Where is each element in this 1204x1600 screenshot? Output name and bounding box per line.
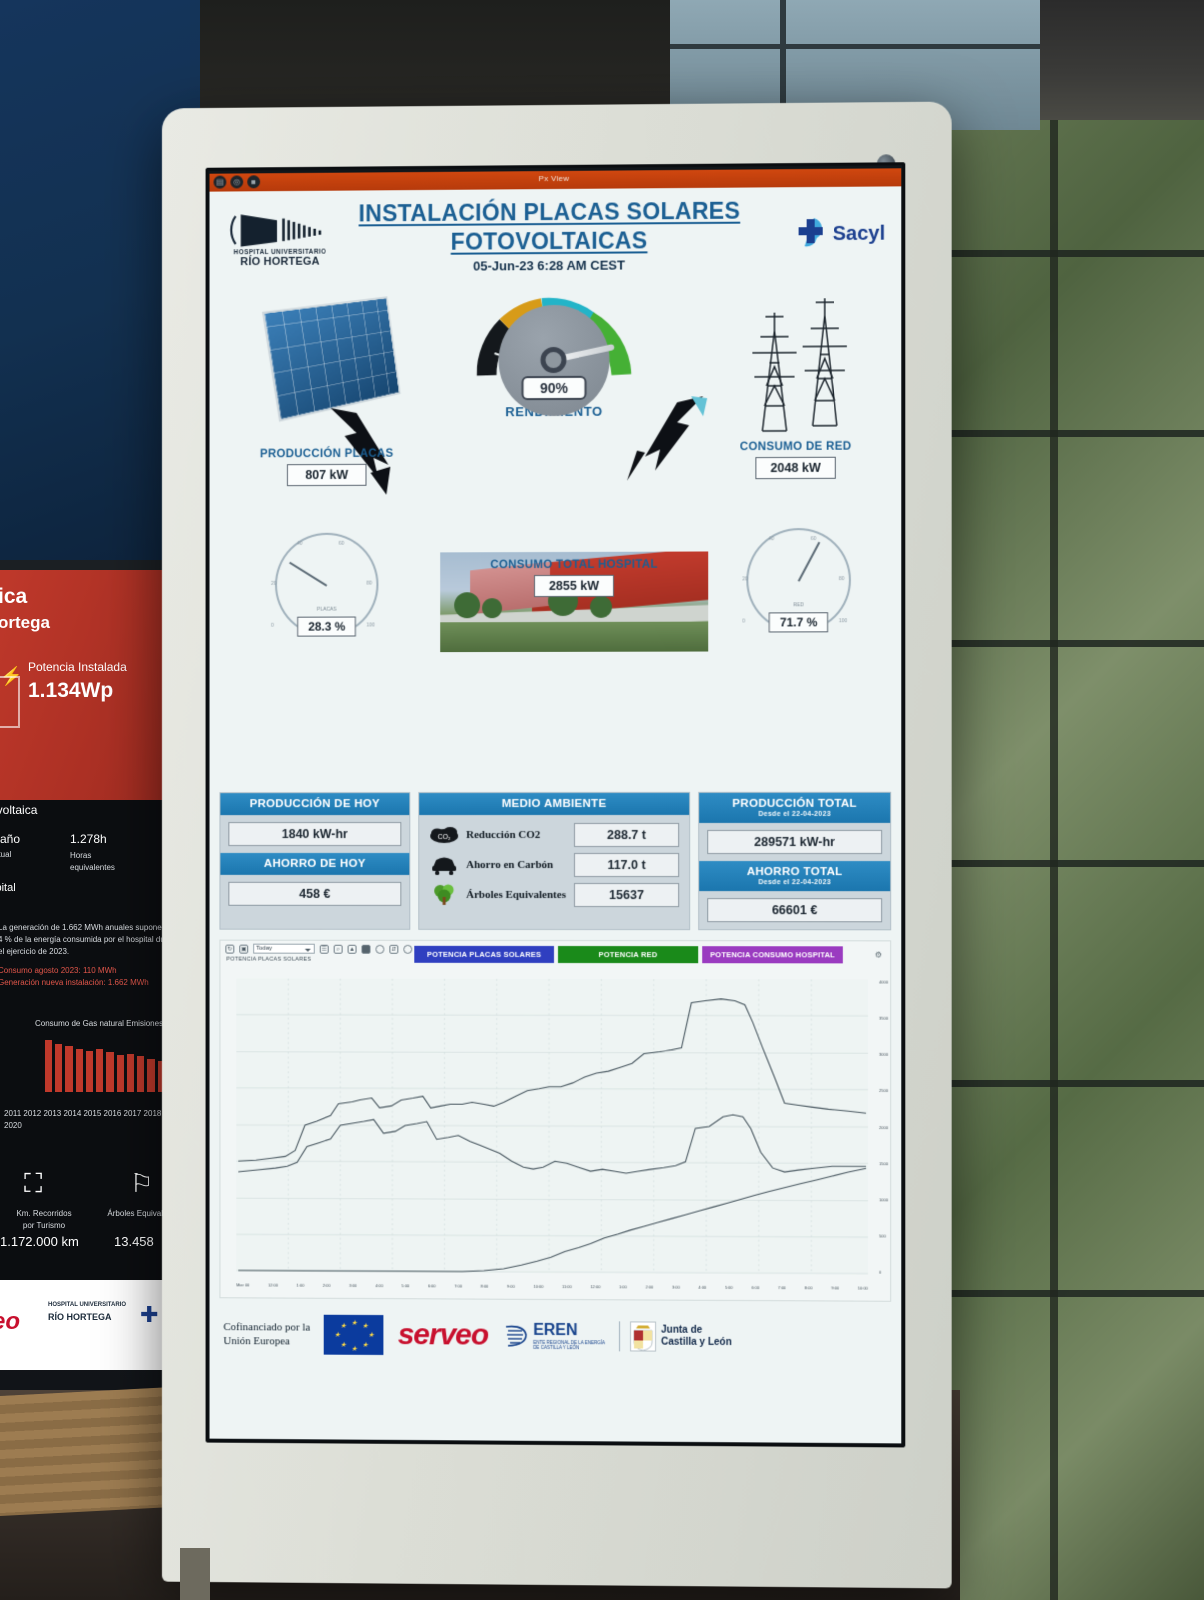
power-pylons-image <box>740 290 861 441</box>
x-tick: 9:00 <box>507 1284 515 1289</box>
poster-hours-unit1: Horas <box>70 850 91 862</box>
environment-row-value-box: 117.0 t <box>574 853 679 877</box>
energy-flow-diagram: 90% RENDIMIENTO <box>210 275 902 793</box>
x-tick: 7:00 <box>454 1283 462 1288</box>
grid-value: 2048 kW <box>755 457 835 479</box>
x-tick: 10:00 <box>858 1286 868 1291</box>
poster-hours-unit2: equivalentes <box>70 862 115 874</box>
x-tick: 1:00 <box>619 1284 627 1289</box>
environment-row-label: Ahorro en Carbón <box>466 859 567 871</box>
panel-gauge-value: 28.3 % <box>297 617 356 637</box>
eren-logo: EREN ENTE REGIONAL DE LA ENERGÍA DE CAST… <box>502 1322 605 1351</box>
jcyl-logo: Junta de Castilla y León <box>619 1321 732 1352</box>
poster-trees-value: 13.458 <box>114 1234 154 1250</box>
legend-hospital[interactable]: POTENCIA CONSUMO HOSPITAL <box>702 946 843 963</box>
alarm-icon[interactable]: ▲ <box>348 944 357 953</box>
co2-cloud-icon: CO₂ <box>429 824 459 846</box>
svg-text:CO₂: CO₂ <box>438 834 451 841</box>
x-tick: 6:00 <box>752 1285 760 1290</box>
x-tick: 2:00 <box>646 1284 654 1289</box>
today-saving-body: 458 € <box>220 875 409 913</box>
rio-hortega-mark-icon <box>225 208 334 249</box>
x-tick: 5:00 <box>725 1285 733 1290</box>
poster-red-1: Consumo agosto 2023: 110 MWh <box>0 965 117 977</box>
environment-panel: MEDIO AMBIENTE CO₂ <box>418 792 690 930</box>
stop-icon[interactable] <box>362 944 371 953</box>
header-title-block: INSTALACIÓN PLACAS SOLARES FOTOVOLTAICAS… <box>335 197 765 274</box>
y-tick: 3000 <box>879 1052 888 1057</box>
environment-row-value-box: 288.7 t <box>574 823 679 847</box>
range-select[interactable]: Today <box>253 944 315 954</box>
poster-brand-sub-1: HOSPITAL UNIVERSITARIO <box>48 1302 126 1308</box>
chart-legend[interactable]: POTENCIA PLACAS SOLARES POTENCIA RED POT… <box>414 946 843 964</box>
serveo-logo: serveo <box>398 1318 488 1352</box>
environment-row: Árboles Equivalentes 15637 <box>429 883 679 907</box>
environment-row-value-box: 15637 <box>574 883 679 907</box>
today-saving-value: 458 € <box>228 882 401 906</box>
poster-red-2: Generación nueva instalación: 1.662 MWh <box>0 977 149 989</box>
sacyl-logo: Sacyl <box>764 214 885 255</box>
production-block: PRODUCCIÓN PLACAS 807 kW <box>227 448 426 487</box>
grid-consumption-block: CONSUMO DE RED 2048 kW <box>700 440 891 479</box>
poster-km-label-1: Km. Recorridos <box>4 1208 84 1220</box>
gauge-value: 90% <box>522 376 586 400</box>
settings-icon[interactable] <box>403 944 412 953</box>
poster-sacyl-icon: ✚ <box>140 1302 158 1328</box>
x-tick: 2:00 <box>323 1283 331 1288</box>
total-value: 2855 kW <box>534 575 614 597</box>
today-production-header: PRODUCCIÓN DE HOY <box>220 793 409 815</box>
y-tick: 1000 <box>879 1197 888 1202</box>
car-icon: ⛶ <box>24 1168 42 1200</box>
eren-name: EREN <box>533 1322 605 1340</box>
x-tick: 6:00 <box>428 1283 436 1288</box>
production-label: PRODUCCIÓN PLACAS <box>227 448 426 461</box>
legend-solar[interactable]: POTENCIA PLACAS SOLARES <box>414 946 554 963</box>
chart-gear-icon[interactable]: ⚙ <box>875 950 882 959</box>
x-tick: 12:00 <box>268 1283 278 1288</box>
poster-hours-label: h/año <box>0 832 20 847</box>
jcyl-text: Junta de Castilla y León <box>661 1325 732 1349</box>
sacyl-cross-icon <box>787 214 827 254</box>
poster-power-value: 1.134Wp <box>28 678 113 704</box>
y-tick: 3500 <box>879 1016 888 1021</box>
tree-icon <box>429 884 459 906</box>
list-icon[interactable]: ☰ <box>320 944 329 953</box>
co2-value: 288.7 t <box>574 823 679 847</box>
chart-x-axis-labels: Mier 00 12:00 1:00 2:00 3:00 4:00 5:00 6… <box>236 1282 868 1290</box>
y-tick: 500 <box>879 1233 888 1238</box>
poster-brand-sub-2: RÍO HORTEGA <box>48 1312 112 1322</box>
jcyl-line-1: Junta de <box>661 1325 732 1337</box>
grid-share-gauge: 4060 2080 0100 RED 71.7 % <box>738 528 859 639</box>
eu-flag-icon: ★★ ★★ ★★ ★★ <box>324 1315 384 1355</box>
stats-panels: PRODUCCIÓN DE HOY 1840 kW-hr AHORRO DE H… <box>210 792 902 931</box>
x-tick: 12:00 <box>590 1284 600 1289</box>
total-saving-title: AHORRO TOTAL <box>747 866 843 878</box>
poster-mini-bar-chart <box>45 1030 175 1092</box>
total-production-sub: Desde el 22-04-2023 <box>701 811 888 818</box>
total-saving-sub: Desde el 22-04-2023 <box>701 879 888 886</box>
building-lawn <box>440 622 708 653</box>
x-tick: 1:00 <box>296 1283 304 1288</box>
calendar-icon[interactable]: ▣ <box>239 944 248 953</box>
y-tick: 4000 <box>879 980 888 985</box>
updown-icon[interactable]: ⇵ <box>389 944 398 953</box>
photo-scene: ica ortega Potencia Instalada 1.134Wp ⚡ … <box>0 0 1204 1600</box>
x-tick: 5:00 <box>402 1283 410 1288</box>
search-icon[interactable]: ⌕ <box>334 944 343 953</box>
y-tick: 0 <box>879 1270 888 1275</box>
total-production-title: PRODUCCIÓN TOTAL <box>732 798 856 810</box>
total-saving-body: 66601 € <box>699 891 890 929</box>
today-panel: PRODUCCIÓN DE HOY 1840 kW-hr AHORRO DE H… <box>219 792 410 930</box>
total-production-value: 289571 kW-hr <box>707 830 882 854</box>
jcyl-crest-icon <box>630 1321 656 1351</box>
chart-y-axis-labels: 4000 3500 3000 2500 2000 1500 1000 500 0 <box>879 980 888 1275</box>
rio-hortega-logo: HOSPITAL UNIVERSITARIO RÍO HORTEGA <box>225 208 334 268</box>
poster-hours-value: 1.278h <box>70 832 107 847</box>
poster-km-label-2: por Turismo <box>4 1220 84 1232</box>
gauge-center-cap <box>541 347 567 373</box>
page-datetime: 05-Jun-23 6:28 AM CEST <box>335 257 765 275</box>
x-tick: 9:00 <box>831 1285 839 1290</box>
pylon-icon <box>740 290 861 441</box>
footer-logos: Cofinanciado por la Unión Europea ★★ ★★ … <box>210 1298 902 1358</box>
dashboard-page: HOSPITAL UNIVERSITARIO RÍO HORTEGA INSTA… <box>210 186 902 1443</box>
poster-brand: eo <box>0 1308 20 1336</box>
hospital-line-2: RÍO HORTEGA <box>225 255 334 268</box>
poster-hours-sub: actual <box>0 849 11 861</box>
poster-para-2: 4 % de la energía consumida por el hospi… <box>0 934 183 946</box>
poster-footer-logos: eo HOSPITAL UNIVERSITARIO RÍO HORTEGA ✚ <box>0 1280 188 1370</box>
building-icon <box>0 676 20 728</box>
refresh-icon[interactable]: ↻ <box>225 944 234 953</box>
dashboard-header: HOSPITAL UNIVERSITARIO RÍO HORTEGA INSTA… <box>210 186 902 279</box>
poster-pv-label: ovoltaica <box>0 803 37 818</box>
eren-mark-icon <box>502 1323 530 1349</box>
environment-row: Ahorro en Carbón 117.0 t <box>429 853 679 877</box>
x-tick: Mier 00 <box>236 1282 249 1287</box>
power-trend-chart: ↻ ▣ Today ☰ ⌕ ▲ ⇵ POTENCIA PLACAS SOLARE… <box>219 940 891 1302</box>
page-title-line-2: FOTOVOLTAICAS <box>335 226 765 256</box>
total-panel: PRODUCCIÓN TOTAL Desde el 22-04-2023 289… <box>698 792 891 931</box>
chart-plot-area[interactable] <box>236 979 868 1275</box>
legend-grid[interactable]: POTENCIA RED <box>558 946 698 963</box>
sacyl-label: Sacyl <box>833 222 886 245</box>
jcyl-line-2: Castilla y León <box>661 1337 732 1349</box>
gauge-dial <box>477 285 632 381</box>
x-tick: 8:00 <box>481 1284 489 1289</box>
total-production-header: PRODUCCIÓN TOTAL Desde el 22-04-2023 <box>699 793 890 823</box>
panel-gauge-unit: PLACAS <box>267 606 386 612</box>
x-tick: 11:00 <box>562 1284 572 1289</box>
eu-line-2: Unión Europea <box>223 1334 310 1349</box>
tree-decor <box>482 598 502 618</box>
digital-signage-kiosk: ▤ ◎ ■ Px View <box>162 102 952 1589</box>
clock-icon[interactable] <box>375 944 384 953</box>
tree-decor <box>590 596 612 618</box>
environment-row: CO₂ Reducción CO2 288.7 t <box>429 823 679 847</box>
coal-value: 117.0 t <box>574 853 679 877</box>
eu-cofinance-text: Cofinanciado por la Unión Europea <box>223 1320 310 1349</box>
x-tick: 4:00 <box>375 1283 383 1288</box>
x-tick: 10:00 <box>533 1284 543 1289</box>
chart-svg <box>236 979 868 1275</box>
poster-power-label: Potencia Instalada <box>28 660 127 675</box>
poster-hospital: spital <box>0 882 16 896</box>
kiosk-base-post <box>180 1548 210 1600</box>
grid-label: CONSUMO DE RED <box>700 440 891 453</box>
coal-cart-icon <box>429 854 459 876</box>
poster-km-value: 1.172.000 km <box>0 1234 79 1250</box>
today-production-value: 1840 kW-hr <box>228 822 401 846</box>
os-window-title: Px View <box>210 171 902 185</box>
poster-para-3: el ejercicio de 2023. <box>0 946 183 958</box>
x-tick: 3:00 <box>672 1285 680 1290</box>
today-production-body: 1840 kW-hr <box>220 815 409 853</box>
grid-gauge-value: 71.7 % <box>769 612 829 632</box>
total-production-body: 289571 kW-hr <box>699 823 890 861</box>
bolt-right-icon <box>603 394 713 500</box>
environment-row-label: Árboles Equivalentes <box>466 889 567 901</box>
trees-value: 15637 <box>574 883 679 907</box>
x-tick: 3:00 <box>349 1283 357 1288</box>
total-consumption-block: CONSUMO TOTAL HOSPITAL 2855 kW <box>440 558 708 597</box>
y-tick: 2500 <box>879 1088 888 1093</box>
screen: ▤ ◎ ■ Px View <box>210 168 902 1443</box>
x-tick: 4:00 <box>698 1285 706 1290</box>
total-saving-value: 66601 € <box>707 898 882 922</box>
tree-stump-icon: ⚐ <box>130 1168 153 1199</box>
grid-gauge-unit: RED <box>738 602 859 608</box>
environment-header: MEDIO AMBIENTE <box>419 793 689 815</box>
poster-mini-axis: 2011 2012 2013 2014 2015 2016 2017 2018 … <box>4 1108 188 1131</box>
environment-body: CO₂ Reducción CO2 288.7 t <box>419 815 689 913</box>
page-title-line-1: INSTALACIÓN PLACAS SOLARES <box>335 197 765 227</box>
panel-share-gauge: 4060 2080 0100 PLACAS 28.3 % <box>267 533 386 643</box>
today-saving-header: AHORRO DE HOY <box>220 853 409 875</box>
total-label: CONSUMO TOTAL HOSPITAL <box>440 558 708 571</box>
total-saving-header: AHORRO TOTAL Desde el 22-04-2023 <box>699 861 890 891</box>
window-glass-right <box>930 0 1204 1600</box>
poster-title-2: ortega <box>0 612 50 633</box>
production-value: 807 kW <box>287 464 367 486</box>
x-tick: 8:00 <box>805 1285 813 1290</box>
eren-sub-2: DE CASTILLA Y LEÓN <box>533 1345 605 1350</box>
environment-row-label: Reducción CO2 <box>466 829 567 841</box>
poster-para-1: La generación de 1.662 MWh anuales supon… <box>0 922 183 934</box>
eu-line-1: Cofinanciado por la <box>223 1320 310 1335</box>
y-tick: 1500 <box>879 1161 888 1166</box>
poster-title-1: ica <box>0 584 27 610</box>
x-tick: 7:00 <box>778 1285 786 1290</box>
y-tick: 2000 <box>879 1125 888 1130</box>
